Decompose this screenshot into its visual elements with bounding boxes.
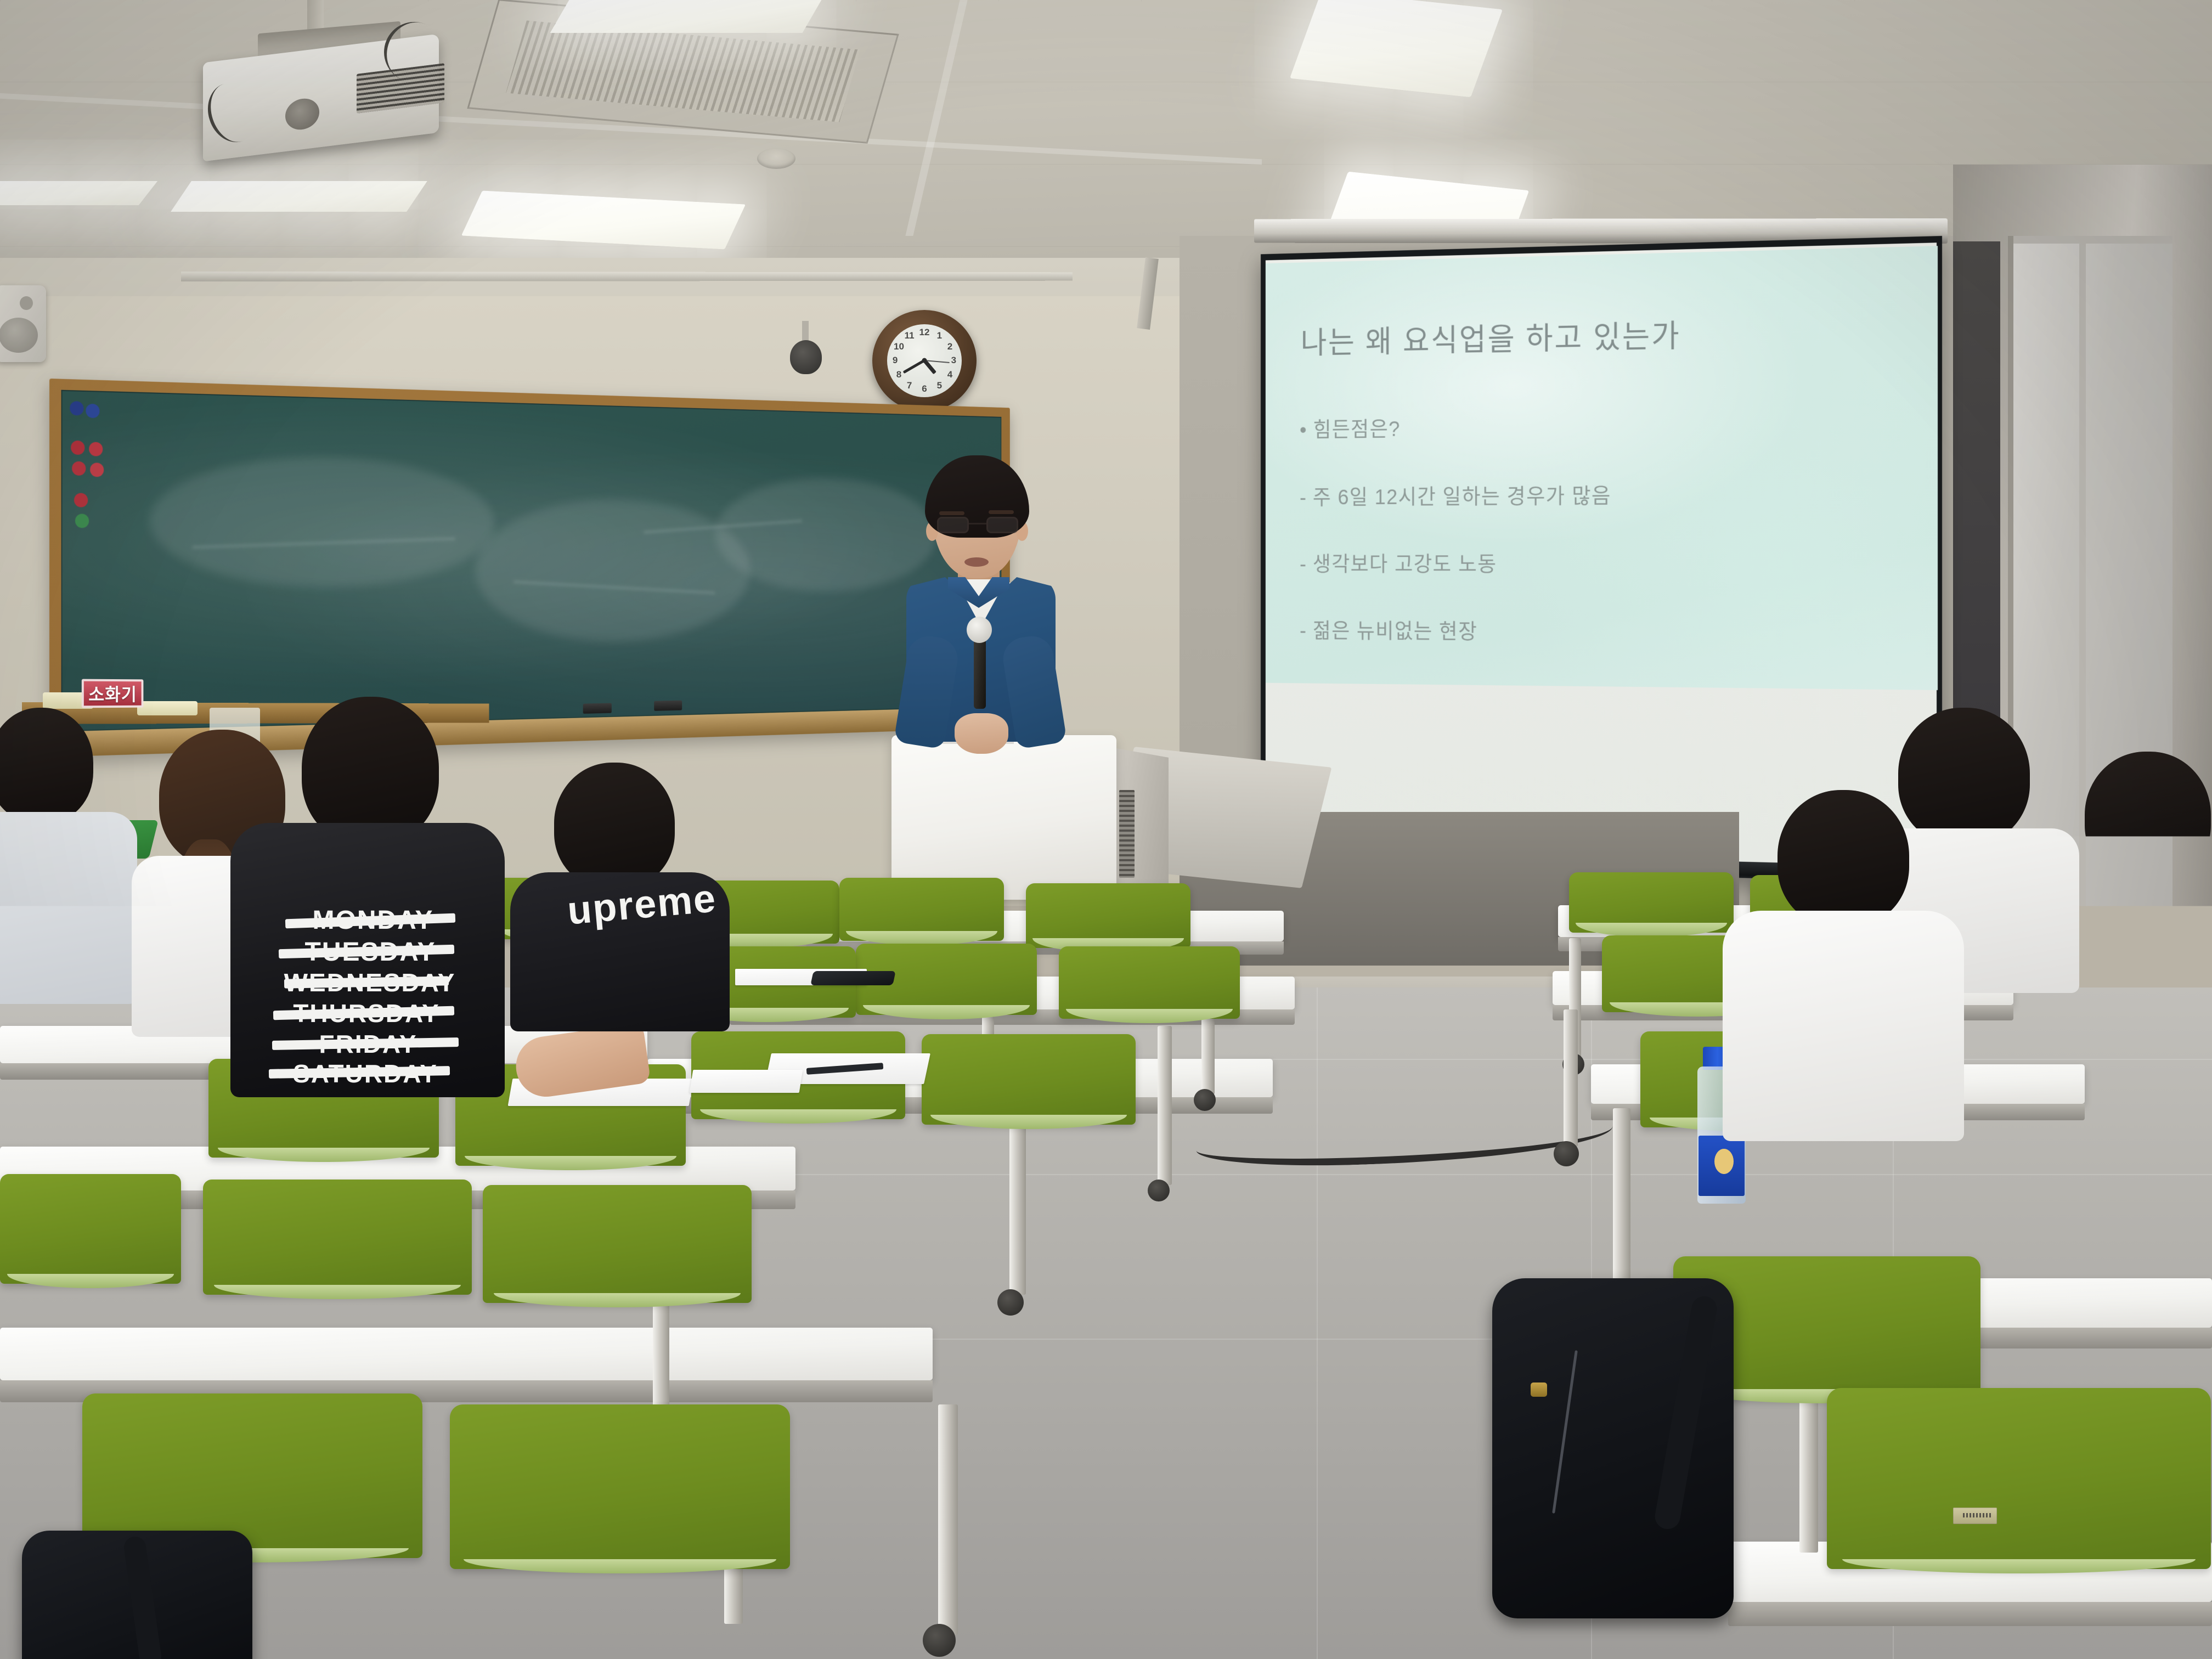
table-leg <box>938 1404 958 1635</box>
chair[interactable] <box>922 1034 1136 1125</box>
projection-screen: 나는 왜 요식업을 하고 있는가 •힘든점은? -주 6일 12시간 일하는 경… <box>1261 236 1942 883</box>
bottle-label <box>1699 1136 1745 1196</box>
clock-numeral: 9 <box>893 355 898 366</box>
student: MONDAY TUESDAY WEDNESDAY THURSDAY FRIDAY… <box>219 697 505 1092</box>
chalkboard-surface <box>61 390 1002 732</box>
student: upreme <box>494 763 713 971</box>
student-head <box>1778 790 1909 927</box>
clock-numeral: 4 <box>947 369 952 380</box>
clock-numeral: 6 <box>922 383 927 394</box>
bullet-text: 젊은 뉴비없는 현장 <box>1313 619 1477 644</box>
bullet-text: 힘든점은? <box>1313 417 1401 442</box>
clock-numeral: 10 <box>894 341 904 352</box>
student <box>0 708 143 993</box>
paper-sheet <box>690 1070 803 1093</box>
board-magnet[interactable] <box>74 493 88 507</box>
presenter <box>878 455 1086 741</box>
floor-tile-line <box>1317 988 1318 1659</box>
table-leg <box>1613 1108 1630 1284</box>
clock-numeral: 2 <box>947 341 952 352</box>
student <box>1712 790 1942 1130</box>
student-head <box>2085 752 2211 883</box>
backpack-buckle <box>1531 1383 1547 1397</box>
slide-bullet-4: -젊은 뉴비없는 현장 <box>1300 613 1477 645</box>
wall-clock: 12 1 2 3 4 5 6 7 8 9 10 11 <box>872 310 977 411</box>
chair-asset-label <box>1953 1508 1997 1524</box>
table-caster <box>1554 1141 1579 1166</box>
table-caster <box>1194 1089 1216 1111</box>
table-leg <box>1158 1026 1172 1185</box>
script-logo-text: Lo <box>2121 1009 2165 1057</box>
clock-numeral: 1 <box>937 330 942 341</box>
slide-title: 나는 왜 요식업을 하고 있는가 <box>1301 311 1681 362</box>
glasses-bridge <box>969 523 986 524</box>
microphone-body <box>974 637 986 709</box>
chair[interactable] <box>483 1185 752 1303</box>
presenter-eyebrow <box>989 510 1014 514</box>
fire-extinguisher-sign: 소화기 <box>82 679 144 708</box>
student-torso <box>0 812 137 1004</box>
chalkboard-eraser[interactable] <box>583 703 612 714</box>
lectern-podium <box>891 735 1116 900</box>
chalkboard <box>49 379 1010 757</box>
chair[interactable] <box>450 1404 790 1569</box>
ledge-paper <box>137 701 198 715</box>
chalkboard-eraser[interactable] <box>654 701 682 711</box>
podium-vent-panel <box>1119 790 1135 878</box>
bullet-marker: - <box>1300 486 1307 509</box>
bullet-marker: - <box>1300 553 1307 576</box>
glasses-lens <box>986 517 1018 533</box>
chair[interactable] <box>839 878 1004 941</box>
board-magnet[interactable] <box>89 442 103 456</box>
chair[interactable] <box>0 1174 181 1284</box>
table-edge <box>1728 1602 2212 1626</box>
board-magnet[interactable] <box>71 441 84 455</box>
slide-bullet-3: -생각보다 고강도 노동 <box>1300 547 1497 578</box>
projected-slide: 나는 왜 요식업을 하고 있는가 •힘든점은? -주 6일 12시간 일하는 경… <box>1266 246 1938 690</box>
bullet-text: 생각보다 고강도 노동 <box>1313 552 1497 575</box>
wall-speaker <box>0 285 46 362</box>
clock-numeral: 12 <box>919 327 930 338</box>
clock-numeral: 3 <box>951 355 956 366</box>
wall-track-rail <box>181 272 1073 281</box>
clock-numeral: 7 <box>907 380 912 391</box>
chalk-smudge <box>475 498 751 644</box>
clock-center-dot <box>922 358 927 363</box>
window-mullion <box>2013 236 2172 244</box>
smoke-detector-icon <box>757 148 795 169</box>
chair[interactable] <box>1059 946 1240 1019</box>
table-caster <box>923 1624 956 1657</box>
chair[interactable] <box>1827 1388 2211 1569</box>
phone[interactable] <box>810 971 896 985</box>
ceiling-light <box>0 181 157 205</box>
presenter-hands <box>955 713 1008 754</box>
student-head <box>0 708 93 823</box>
board-magnet[interactable] <box>70 401 83 416</box>
table-leg <box>1564 1009 1578 1147</box>
classroom-photo-scene: 12 1 2 3 4 5 6 7 8 9 10 11 <box>0 0 2212 1659</box>
chair[interactable] <box>1026 883 1190 948</box>
clock-face: 12 1 2 3 4 5 6 7 8 9 10 11 <box>887 324 962 397</box>
slide-bullet-1: •힘든점은? <box>1300 412 1401 443</box>
student-torso <box>2057 867 2212 1009</box>
table-caster <box>1148 1180 1170 1201</box>
presenter-eyebrow <box>939 511 964 515</box>
chalk-smudge <box>149 454 494 588</box>
bullet-text: 주 6일 12시간 일하는 경우가 많음 <box>1313 484 1611 509</box>
board-magnet[interactable] <box>90 462 104 477</box>
slide-bullet-2: -주 6일 12시간 일하는 경우가 많음 <box>1300 478 1611 511</box>
board-magnet[interactable] <box>72 461 86 476</box>
microphone-head-icon <box>967 617 992 643</box>
glasses-lens <box>937 517 969 533</box>
chair[interactable] <box>1569 872 1734 933</box>
chair[interactable] <box>203 1180 472 1295</box>
bullet-marker: • <box>1300 419 1307 442</box>
clock-numeral: 5 <box>937 380 942 391</box>
security-camera-icon <box>790 340 822 374</box>
student <box>2063 752 2212 982</box>
board-magnet[interactable] <box>75 513 89 528</box>
table-caster <box>997 1289 1024 1316</box>
ceiling-light <box>550 0 822 33</box>
board-magnet[interactable] <box>86 404 99 418</box>
ceiling-light <box>171 181 427 212</box>
student-torso <box>1926 1004 2212 1344</box>
student-head <box>554 763 675 889</box>
bullet-marker: - <box>1300 619 1307 642</box>
table <box>0 1328 933 1380</box>
clock-numeral: 8 <box>896 369 901 380</box>
table-leg <box>1009 1114 1026 1295</box>
presenter-mouth <box>964 557 989 567</box>
clock-numeral: 11 <box>905 330 915 341</box>
presenter-glasses <box>937 517 1018 533</box>
